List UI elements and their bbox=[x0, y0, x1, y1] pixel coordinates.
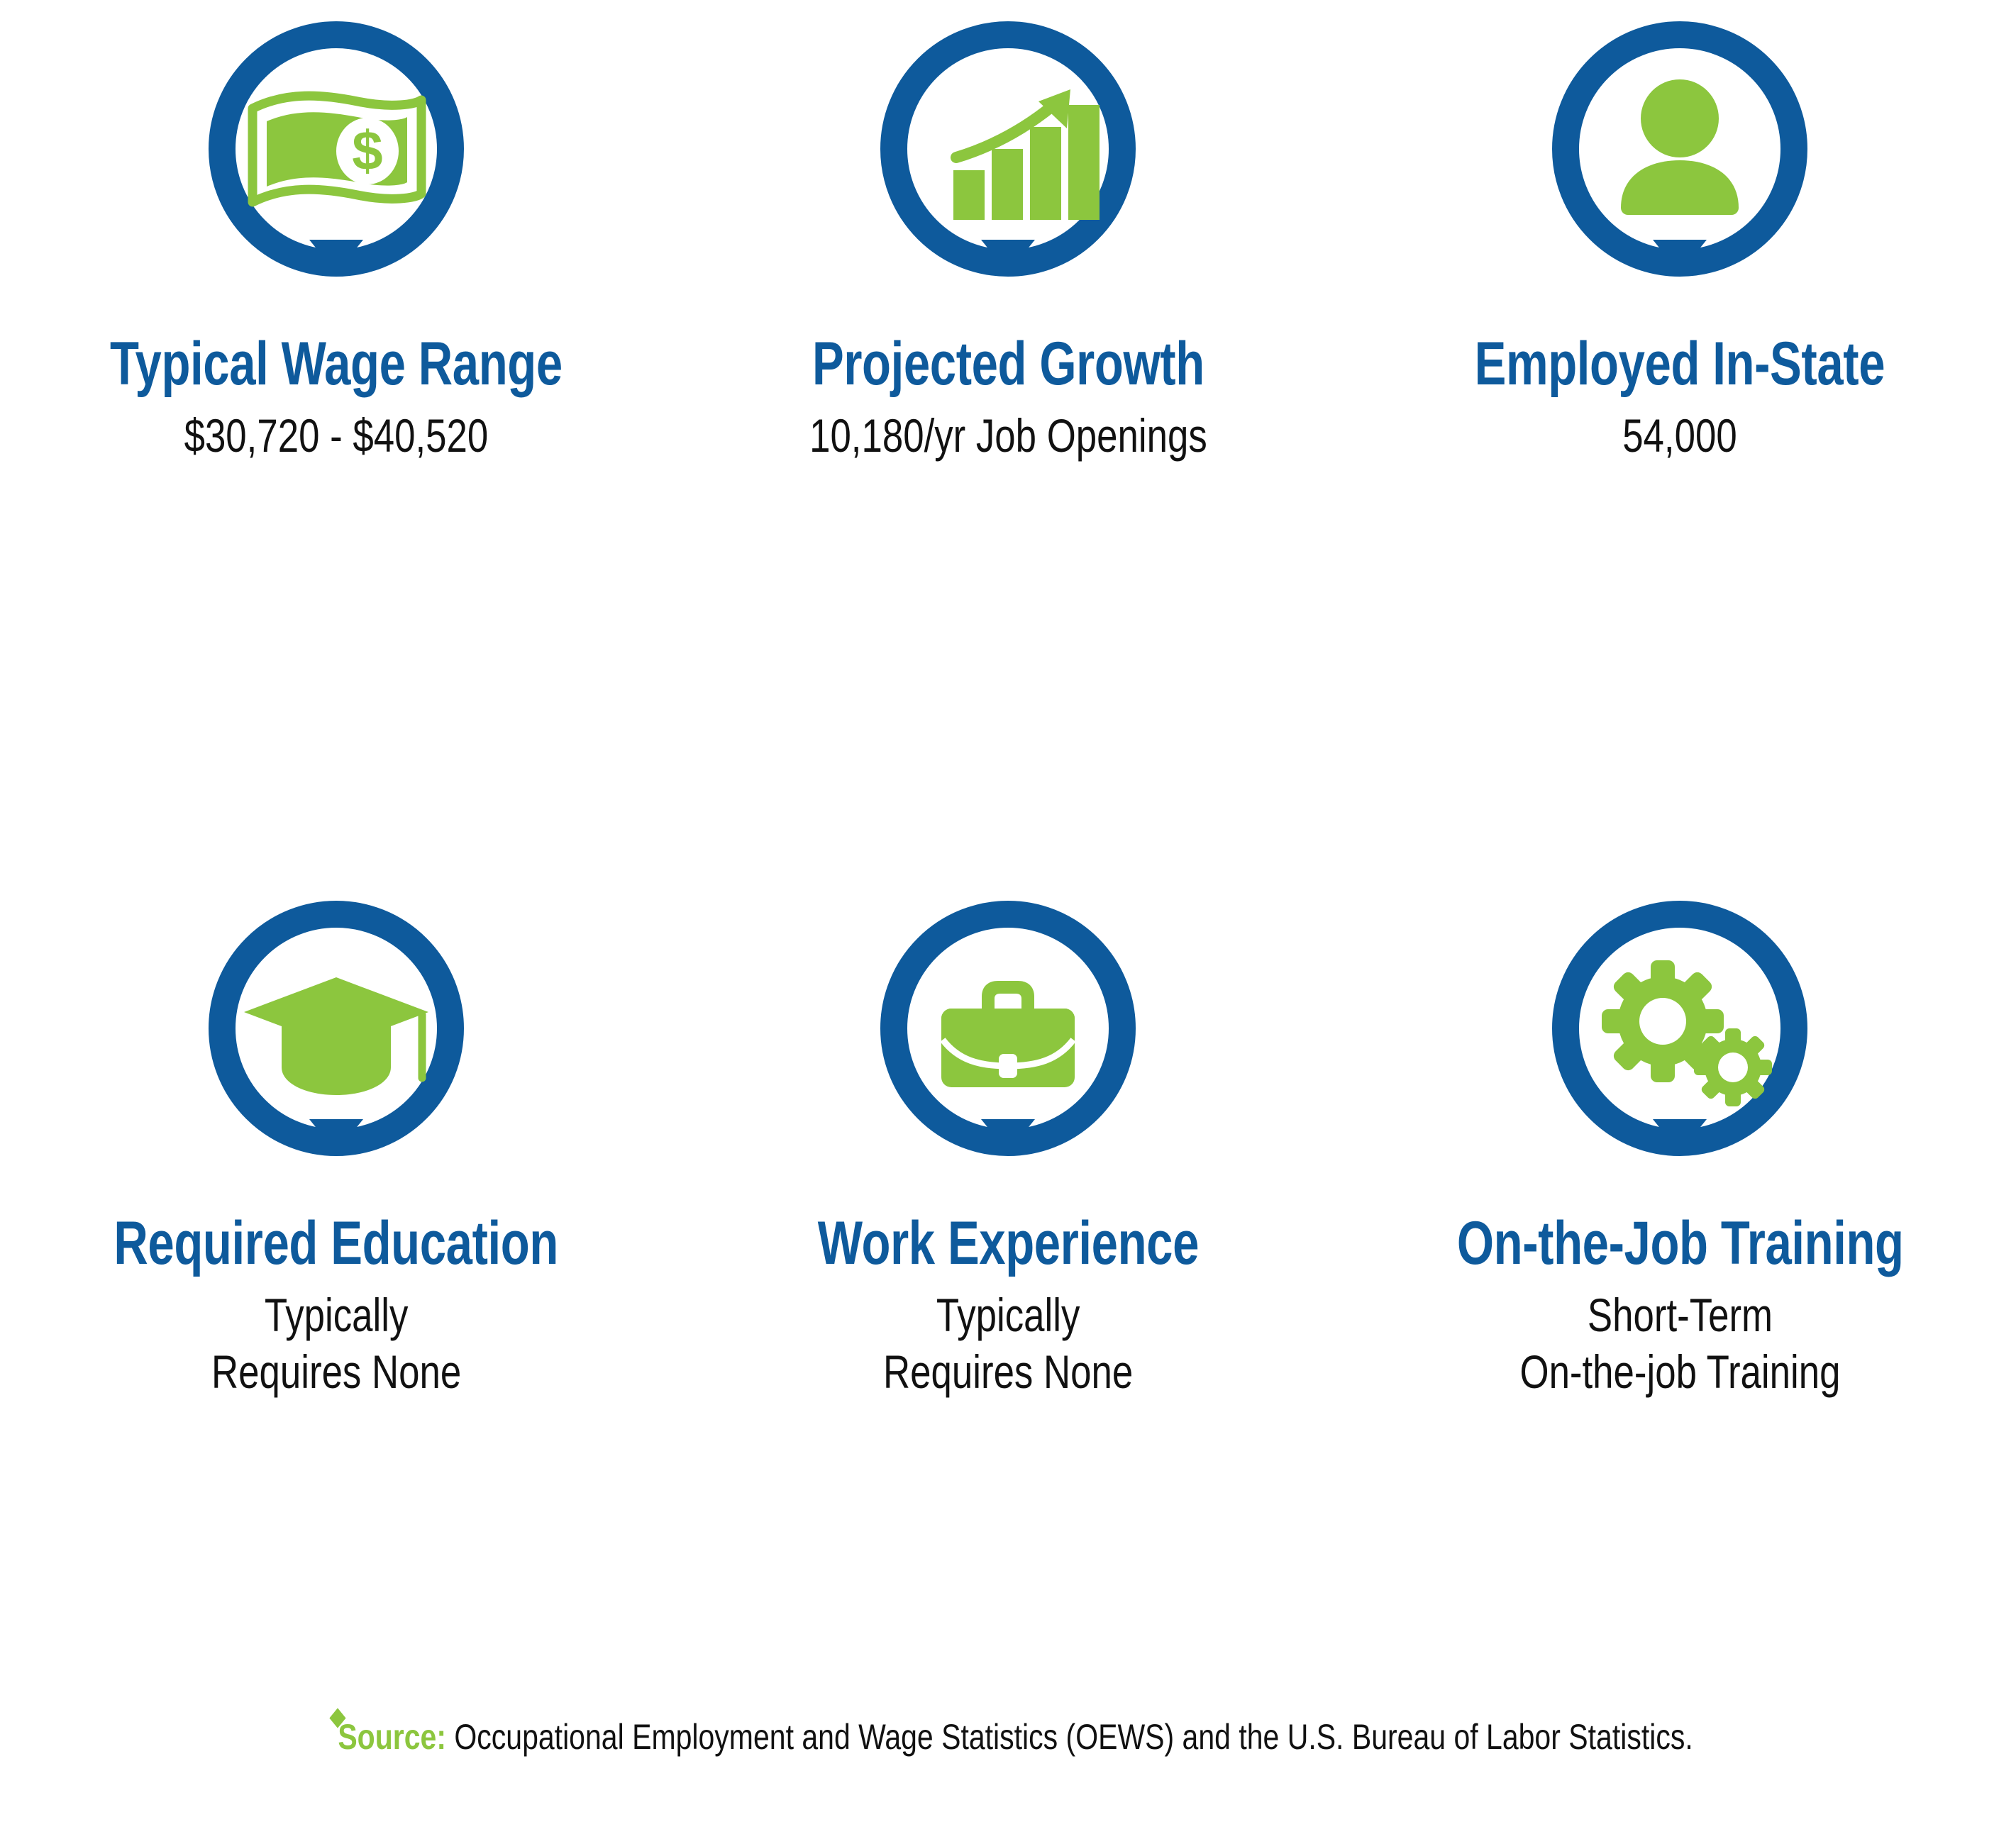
stat-card-work-experience: Work Experience Typically Requires None bbox=[672, 879, 1344, 1759]
source-text: Occupational Employment and Wage Statist… bbox=[446, 1717, 1693, 1757]
person-icon bbox=[1621, 79, 1739, 215]
stat-value: 10,180/yr Job Openings bbox=[809, 407, 1207, 465]
pin-badge-work-experience bbox=[866, 901, 1150, 1199]
graduation-cap-icon bbox=[244, 977, 428, 1095]
stat-card-employed-in-state: Employed In-State 54,000 bbox=[1344, 0, 2016, 879]
stat-value: Typically Requires None bbox=[883, 1287, 1133, 1401]
stat-value: $30,720 - $40,520 bbox=[184, 407, 488, 465]
stat-title: Work Experience bbox=[817, 1213, 1198, 1275]
growth-chart-icon bbox=[953, 89, 1100, 220]
pin-badge-wage: $ bbox=[194, 21, 478, 319]
gears-icon bbox=[1602, 960, 1772, 1106]
money-icon: $ bbox=[253, 96, 421, 202]
pin-badge-education bbox=[194, 901, 478, 1199]
source-footnote: Source: Occupational Employment and Wage… bbox=[0, 1716, 2016, 1757]
briefcase-icon bbox=[941, 981, 1075, 1087]
stat-title: Employed In-State bbox=[1475, 333, 1885, 396]
stat-title: Required Education bbox=[113, 1213, 558, 1275]
stats-grid: $ Typical Wage Range $30,720 - $40,520 bbox=[0, 0, 2016, 1759]
stat-title: Projected Growth bbox=[812, 333, 1204, 396]
job-stats-infographic: $ Typical Wage Range $30,720 - $40,520 bbox=[0, 0, 2016, 1844]
stat-value: 54,000 bbox=[1623, 407, 1738, 465]
pin-badge-employed bbox=[1538, 21, 1822, 319]
stat-title: Typical Wage Range bbox=[110, 333, 563, 396]
stat-title: On-the-Job Training bbox=[1456, 1213, 1903, 1275]
source-label: Source: bbox=[338, 1717, 446, 1757]
stat-value: Short-Term On-the-job Training bbox=[1519, 1287, 1840, 1401]
pin-badge-growth bbox=[866, 21, 1150, 319]
stat-card-typical-wage-range: $ Typical Wage Range $30,720 - $40,520 bbox=[0, 0, 672, 879]
pin-badge-training bbox=[1538, 901, 1822, 1199]
svg-text:$: $ bbox=[352, 119, 382, 182]
stat-card-projected-growth: Projected Growth 10,180/yr Job Openings bbox=[672, 0, 1344, 879]
stat-card-required-education: Required Education Typically Requires No… bbox=[0, 879, 672, 1759]
stat-value: Typically Requires None bbox=[211, 1287, 461, 1401]
stat-card-on-the-job-training: On-the-Job Training Short-Term On-the-jo… bbox=[1344, 879, 2016, 1759]
